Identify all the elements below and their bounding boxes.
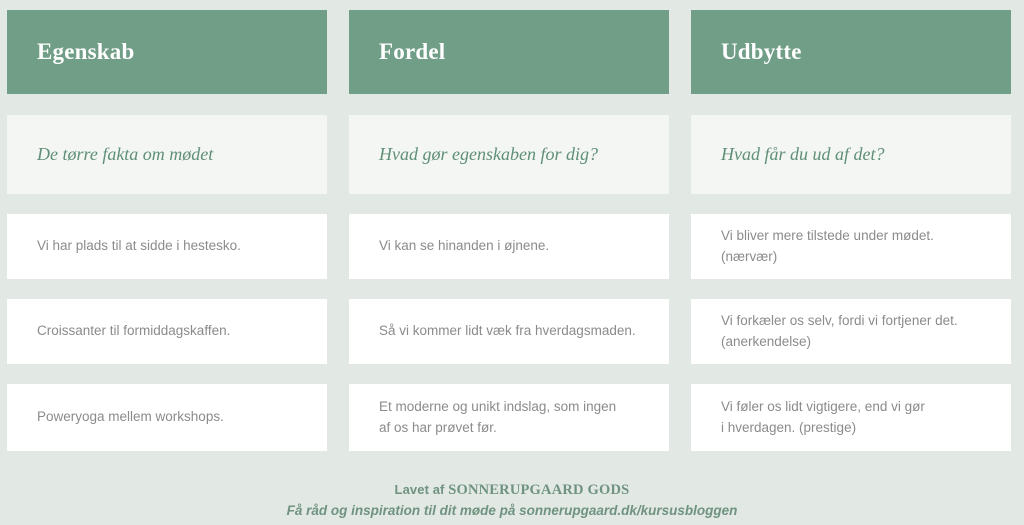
column-subtitle-text: Hvad får du ud af det? [721,144,885,165]
cell-text: Poweryoga mellem workshops. [37,407,224,428]
column-header-udbytte: Udbytte [691,10,1011,94]
cell-text: Vi kan se hinanden i øjnene. [379,236,549,257]
footer: Lavet af SONNERUPGAARD GODS Få råd og in… [0,480,1024,521]
cell-text: Vi føler os lidt vigtigere, end vi gør i… [721,397,925,439]
table-cell: Vi bliver mere tilstede under mødet. (næ… [691,214,1011,279]
column-header-fordel: Fordel [349,10,669,94]
footer-brand-name: SONNERUPGAARD GODS [448,482,629,498]
column-header-title: Udbytte [721,39,802,65]
cell-text: Vi bliver mere tilstede under mødet. (næ… [721,226,934,268]
cell-text: Vi har plads til at sidde i hestesko. [37,236,241,257]
cell-text: Et moderne og unikt indslag, som ingen a… [379,397,616,439]
column-egenskab: Egenskab De tørre fakta om mødet Vi har … [7,10,327,451]
footer-tagline: Få råd og inspiration til dit møde på so… [0,501,1024,521]
table-cell: Vi forkæler os selv, fordi vi fortjener … [691,299,1011,364]
column-fordel: Fordel Hvad gør egenskaben for dig? Vi k… [349,10,669,451]
footer-credit-prefix: Lavet af [395,482,449,497]
column-subtitle-fordel: Hvad gør egenskaben for dig? [349,115,669,194]
column-subtitle-text: Hvad gør egenskaben for dig? [379,144,598,165]
cell-text: Så vi kommer lidt væk fra hverdagsmaden. [379,321,636,342]
column-header-title: Egenskab [37,39,134,65]
column-subtitle-egenskab: De tørre fakta om mødet [7,115,327,194]
feature-benefit-value-board: Egenskab De tørre fakta om mødet Vi har … [0,0,1024,525]
cell-text: Croissanter til formiddagskaffen. [37,321,230,342]
table-cell: Croissanter til formiddagskaffen. [7,299,327,364]
column-subtitle-udbytte: Hvad får du ud af det? [691,115,1011,194]
column-header-title: Fordel [379,39,445,65]
column-subtitle-text: De tørre fakta om mødet [37,144,213,165]
column-udbytte: Udbytte Hvad får du ud af det? Vi bliver… [691,10,1011,451]
column-header-egenskab: Egenskab [7,10,327,94]
table-cell: Vi føler os lidt vigtigere, end vi gør i… [691,384,1011,451]
table-cell: Vi har plads til at sidde i hestesko. [7,214,327,279]
table-cell: Et moderne og unikt indslag, som ingen a… [349,384,669,451]
columns-grid: Egenskab De tørre fakta om mødet Vi har … [7,10,1018,451]
table-cell: Så vi kommer lidt væk fra hverdagsmaden. [349,299,669,364]
table-cell: Poweryoga mellem workshops. [7,384,327,451]
footer-credit-line: Lavet af SONNERUPGAARD GODS [0,480,1024,500]
cell-text: Vi forkæler os selv, fordi vi fortjener … [721,311,958,353]
table-cell: Vi kan se hinanden i øjnene. [349,214,669,279]
